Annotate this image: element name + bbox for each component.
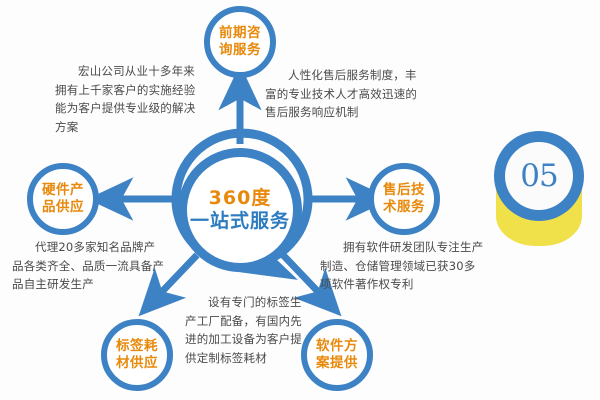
description-top-right: 人性化售后服务制度，丰富的专业技术人才高效迅速的售后服务响应机制 xyxy=(265,66,420,122)
step-badge-number: 05 xyxy=(520,158,557,194)
center-title-line2: 一站式服务 xyxy=(190,209,290,233)
description-top-left: 宏山公司从业十多年来拥有上千家客户的实施经验能为客户提供专业级的解决方案 xyxy=(55,62,205,136)
node-label-line2: 品供应 xyxy=(42,199,84,216)
node-label-line2: 案提供 xyxy=(316,355,358,372)
step-badge-ring: 05 xyxy=(494,131,584,221)
description-middle-right: 拥有软件研发团队专注生产制造、仓储管理领域已获30多项软件著作权专利 xyxy=(320,238,485,294)
node-after-sales-tech[interactable]: 售后技 术服务 xyxy=(368,163,440,235)
center-hub: 360度 一站式服务 xyxy=(178,148,302,272)
center-title-line1: 360度 xyxy=(209,187,272,209)
description-bottom-center: 设有专门的标签生产工厂配备，有国内先进的加工设备为客户提供定制标签耗材 xyxy=(185,293,305,367)
node-label-line2: 询服务 xyxy=(219,42,261,59)
node-pre-sales-consulting[interactable]: 前期咨 询服务 xyxy=(204,6,276,78)
node-label-line1: 软件方 xyxy=(316,338,358,355)
node-label-line1: 前期咨 xyxy=(219,25,261,42)
step-badge-inner: 05 xyxy=(505,142,573,210)
node-label-line1: 售后技 xyxy=(383,182,425,199)
description-middle-left: 代理20多家知名品牌产品各类齐全、品质一流具备产品自主研发生产 xyxy=(12,238,167,294)
node-label-line1: 标签耗 xyxy=(116,338,158,355)
node-label-line2: 材供应 xyxy=(116,355,158,372)
node-label-line1: 硬件产 xyxy=(42,182,84,199)
node-label-line2: 术服务 xyxy=(383,199,425,216)
infographic-canvas: 360度 一站式服务 前期咨 询服务 硬件产 品供应 售后技 术服务 标签耗 材… xyxy=(0,0,600,400)
node-software-solution[interactable]: 软件方 案提供 xyxy=(301,319,373,391)
node-label-consumables[interactable]: 标签耗 材供应 xyxy=(101,319,173,391)
node-hardware-supply[interactable]: 硬件产 品供应 xyxy=(27,163,99,235)
